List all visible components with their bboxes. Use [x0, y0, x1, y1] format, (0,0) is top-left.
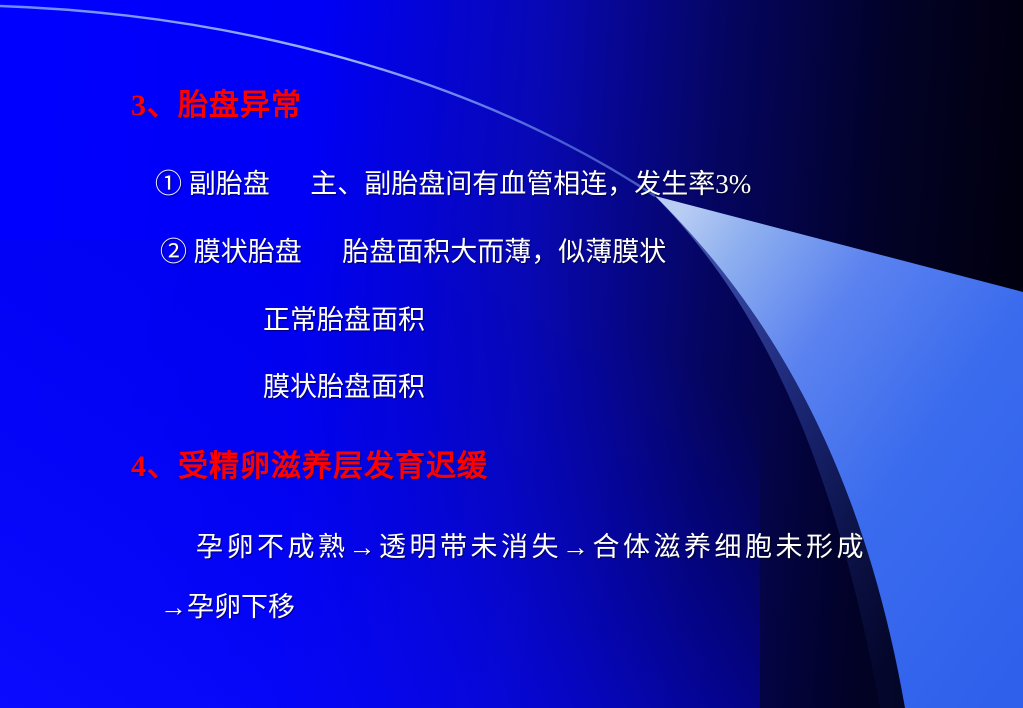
- list-item-succenturiate-placenta: ① 副胎盘 主、副胎盘间有血管相连，发生率3%: [155, 162, 751, 201]
- flow-sequence-line-1: 孕卵不成熟→透明带未消失→合体滋养细胞未形成: [196, 525, 867, 564]
- flow-sequence-line-2: →孕卵下移: [160, 585, 295, 624]
- label-membranous-placenta-area: 膜状胎盘面积: [263, 365, 425, 404]
- slide-canvas: 3、胎盘异常 ① 副胎盘 主、副胎盘间有血管相连，发生率3% ② 膜状胎盘 胎盘…: [0, 0, 1023, 708]
- list-item-membranous-placenta: ② 膜状胎盘 胎盘面积大而薄，似薄膜状: [160, 230, 666, 269]
- slide-text-layer: 3、胎盘异常 ① 副胎盘 主、副胎盘间有血管相连，发生率3% ② 膜状胎盘 胎盘…: [0, 0, 1023, 708]
- label-normal-placenta-area: 正常胎盘面积: [263, 298, 425, 337]
- heading-trophoblast-delay: 4、受精卵滋养层发育迟缓: [131, 441, 488, 485]
- heading-placenta-abnormality: 3、胎盘异常: [131, 80, 302, 124]
